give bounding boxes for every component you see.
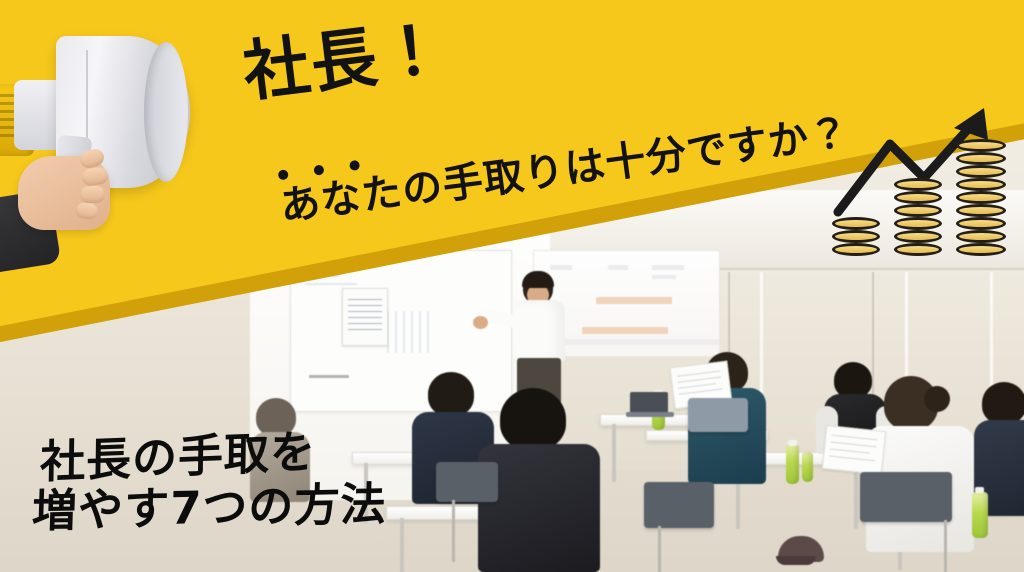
bottle-cap	[975, 487, 984, 493]
handout-paper	[822, 425, 886, 475]
table-leg	[854, 463, 858, 529]
finger	[80, 186, 106, 204]
cap-brim	[776, 556, 816, 565]
handwritten-tagline: 社長の手取を 増やす7つの方法	[40, 432, 386, 531]
chair	[644, 482, 714, 528]
promo-banner-image: 社長！ あなたの手取りは十分ですか？	[0, 0, 1024, 572]
coin-stack-small	[832, 214, 880, 256]
handwritten-line-2: 増やす7つの方法	[31, 480, 387, 535]
chair	[688, 398, 748, 432]
chair	[436, 462, 498, 502]
finger	[75, 202, 99, 220]
laptop	[626, 412, 674, 417]
chair	[860, 472, 952, 522]
tea-bottle	[786, 444, 799, 484]
chart-sheet-on-whiteboard	[342, 288, 388, 346]
tea-bottle	[802, 452, 813, 482]
coin-stack-medium	[894, 175, 942, 256]
chair-frame	[658, 526, 661, 572]
handwritten-line-1: 社長の手取を	[40, 425, 387, 486]
table-leg	[400, 518, 404, 572]
coin-stack-large	[956, 136, 1006, 256]
megaphone-horn-mouth	[144, 42, 188, 182]
presenter	[505, 272, 575, 402]
chair-frame	[452, 500, 455, 562]
laptop	[630, 392, 668, 414]
coin-stacks-growth-graphic	[828, 100, 1014, 256]
tea-bottle	[972, 492, 988, 538]
bottle-cap	[788, 440, 797, 446]
chair-frame	[944, 520, 947, 572]
table-leg	[612, 424, 616, 482]
megaphone-graphic	[0, 28, 209, 228]
